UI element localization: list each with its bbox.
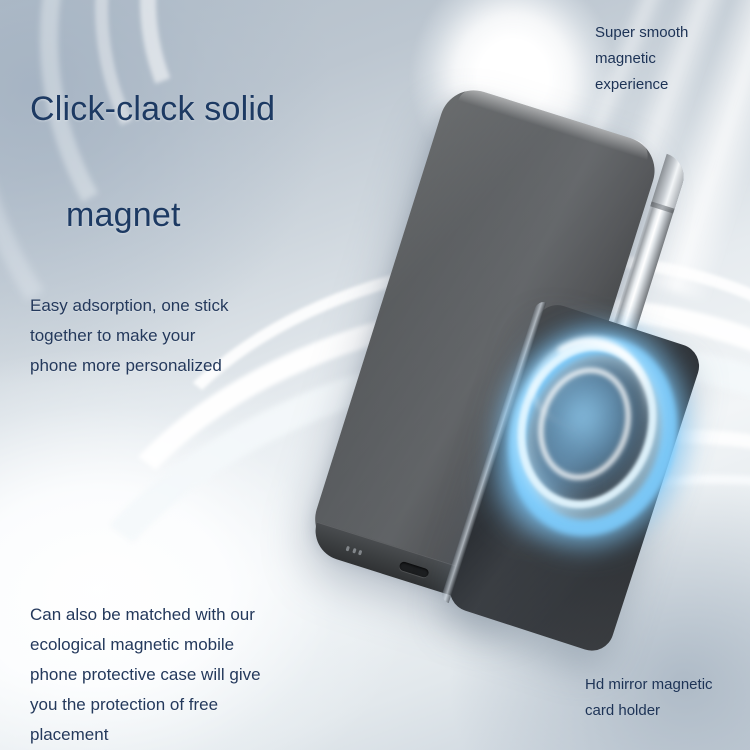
copy-line: Easy adsorption, one stick (30, 291, 300, 321)
headline-line-1: Click-clack solid (30, 90, 275, 129)
phone-charging-port (398, 561, 429, 579)
caption-super-smooth: Super smooth magnetic experience (595, 20, 745, 98)
copy-line: ecological magnetic mobile (30, 630, 305, 660)
feature-copy-protective-case: Can also be matched with our ecological … (30, 600, 305, 750)
copy-line: Can also be matched with our (30, 600, 305, 630)
product-banner: Click-clack solid magnet Easy adsorption… (0, 0, 750, 750)
copy-line: phone protective case will give (30, 660, 305, 690)
magnetic-ring-glow (471, 290, 695, 541)
copy-line: phone more personalized (30, 351, 300, 381)
copy-line: together to make your (30, 321, 300, 351)
headline-line-2: magnet (66, 196, 181, 235)
copy-line: placement (30, 720, 305, 750)
feature-copy-adsorption: Easy adsorption, one stick together to m… (30, 291, 300, 381)
caption-line: Super smooth (595, 20, 745, 46)
caption-line: experience (595, 72, 745, 98)
caption-line: magnetic (595, 46, 745, 72)
phone-speaker-grille-left (346, 546, 363, 556)
copy-line: you the protection of free (30, 690, 305, 720)
caption-line: card holder (585, 698, 750, 724)
